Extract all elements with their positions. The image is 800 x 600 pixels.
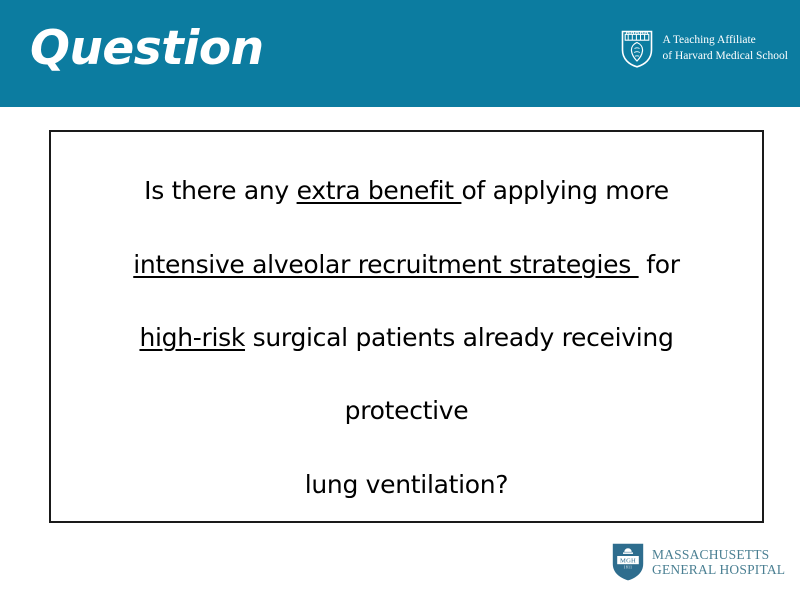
harvard-affiliate-line-2: of Harvard Medical School	[662, 49, 788, 65]
question-line-5: lung ventilation?	[51, 448, 762, 521]
harvard-affiliate-line-1: A Teaching Affiliate	[662, 33, 788, 49]
question-line-1-seg-1: Is there any	[144, 178, 296, 203]
slide-canvas: Question A Teaching Affiliate of Harvard…	[0, 0, 800, 600]
question-line-4-seg-1: protective	[345, 398, 469, 423]
question-line-3: high-risk surgical patients already rece…	[51, 301, 762, 374]
question-line-3-seg-2: surgical patients already receiving	[245, 325, 674, 350]
svg-text:MGH: MGH	[620, 557, 636, 564]
slide-header-band: Question A Teaching Affiliate of Harvard…	[0, 0, 800, 107]
question-line-1-seg-2-underlined: extra benefit	[297, 178, 462, 203]
harvard-affiliate-text: A Teaching Affiliate of Harvard Medical …	[662, 33, 788, 64]
harvard-shield-crest-icon	[621, 30, 653, 68]
mgh-shield-icon: MGH 1811	[612, 543, 644, 581]
question-text-box: Is there any extra benefit of applying m…	[49, 130, 764, 523]
harvard-affiliate-logo: A Teaching Affiliate of Harvard Medical …	[621, 30, 788, 68]
mgh-logo-line-1: MASSACHUSETTS	[652, 547, 785, 562]
page-title: Question	[30, 22, 264, 76]
question-line-1: Is there any extra benefit of applying m…	[51, 154, 762, 227]
question-line-2-seg-2: for	[639, 252, 680, 277]
question-line-2: intensive alveolar recruitment strategie…	[51, 227, 762, 300]
mgh-logo: MGH 1811 MASSACHUSETTS GENERAL HOSPITAL	[612, 543, 785, 581]
question-line-4: protective	[51, 374, 762, 447]
mgh-logo-text: MASSACHUSETTS GENERAL HOSPITAL	[652, 547, 785, 577]
svg-text:1811: 1811	[624, 566, 633, 570]
mgh-logo-line-2: GENERAL HOSPITAL	[652, 562, 785, 577]
question-line-2-seg-1-underlined: intensive alveolar recruitment strategie…	[133, 252, 638, 277]
question-line-1-seg-3: of applying more	[461, 178, 668, 203]
question-line-3-seg-1-underlined: high-risk	[139, 325, 245, 350]
question-line-5-seg-1: lung ventilation?	[305, 472, 509, 497]
